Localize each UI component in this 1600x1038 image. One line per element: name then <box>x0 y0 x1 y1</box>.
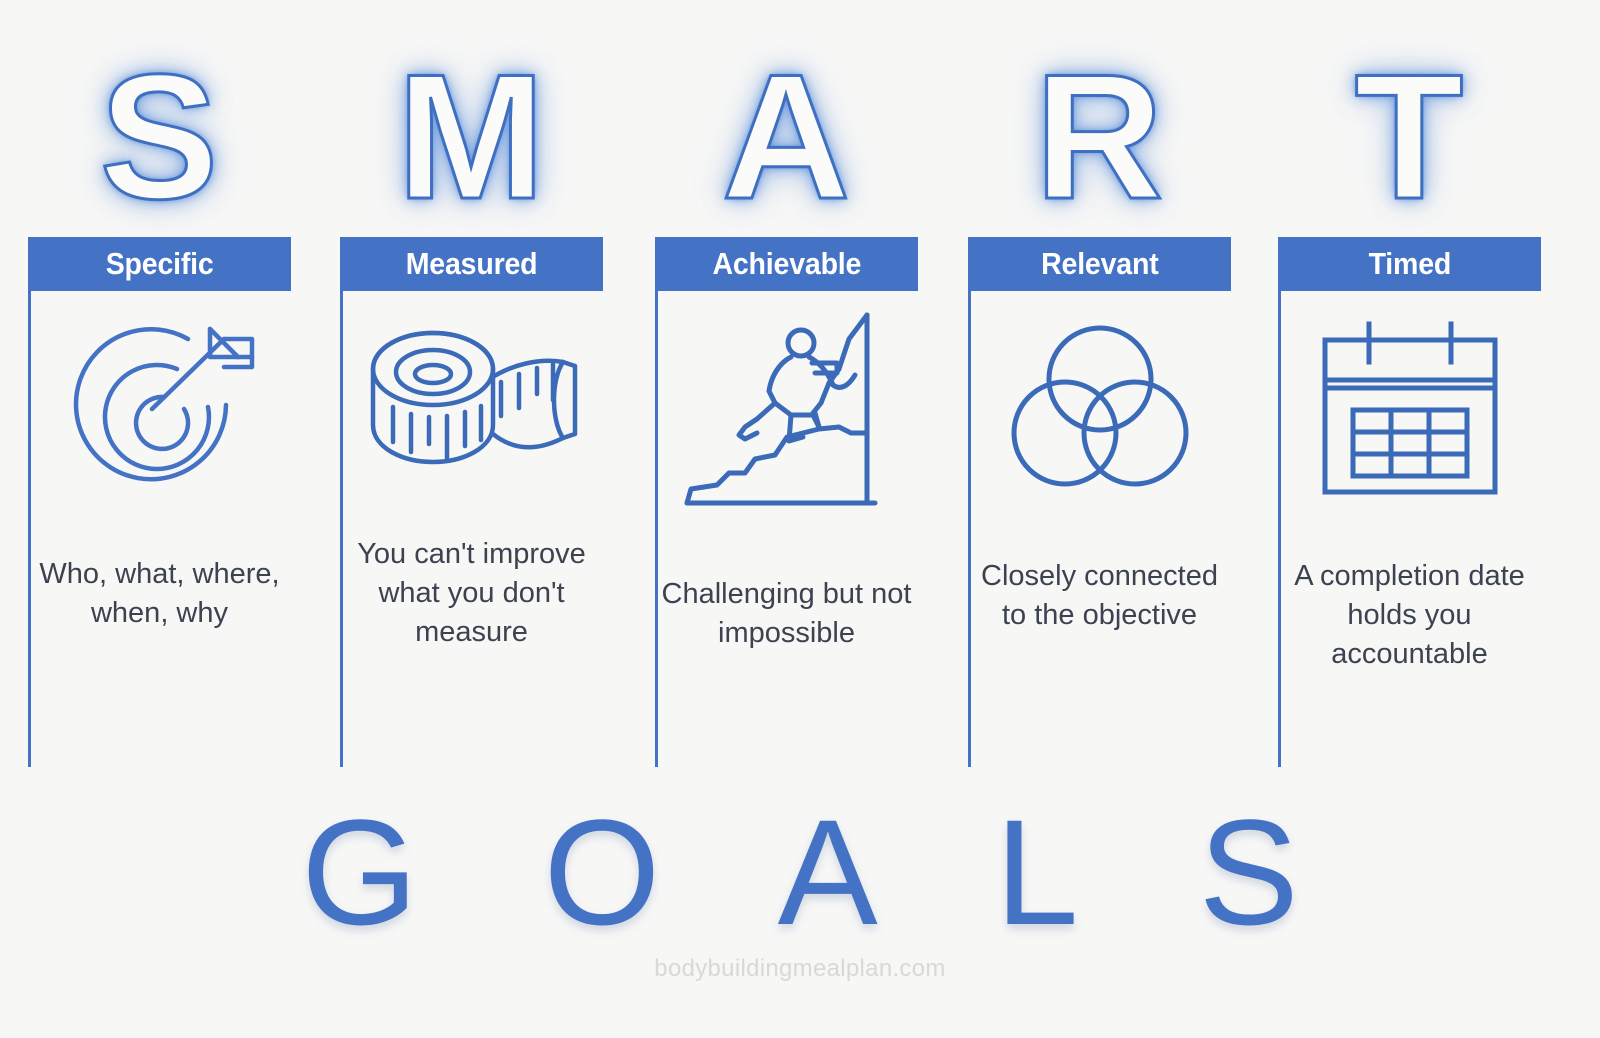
column-description-achievable: Challenging but not impossible <box>655 575 918 653</box>
venn-diagram-icon <box>968 299 1231 519</box>
column-title-measured: Measured <box>406 246 538 282</box>
column-title-achievable: Achievable <box>712 246 861 282</box>
column-description-measured: You can't improve what you don't measure <box>340 535 603 652</box>
column-header-measured: Measured <box>340 237 603 291</box>
column-title-timed: Timed <box>1368 246 1451 282</box>
column-description-specific: Who, what, where, when, why <box>28 555 291 633</box>
measuring-tape-icon <box>340 299 603 519</box>
footer-watermark-url: bodybuildingmealplan.com <box>0 955 1600 983</box>
column-header-specific: Specific <box>28 237 291 291</box>
goals-word: G O A L S <box>0 790 1600 955</box>
column-achievable: Achievable <box>655 237 918 767</box>
column-relevant: Relevant Closely connected to the object… <box>968 237 1231 767</box>
calendar-icon <box>1278 299 1541 519</box>
column-header-relevant: Relevant <box>968 237 1231 291</box>
column-header-timed: Timed <box>1278 237 1541 291</box>
column-description-relevant: Closely connected to the objective <box>968 557 1231 635</box>
column-specific: Specific Who, what, where, when, w <box>28 237 291 767</box>
target-arrow-icon <box>28 299 291 519</box>
column-title-specific: Specific <box>106 246 214 282</box>
column-title-relevant: Relevant <box>1041 246 1158 282</box>
smart-goals-infographic: S M A R T Specific <box>0 0 1600 1038</box>
column-measured: Measured <box>340 237 603 767</box>
column-timed: Timed <box>1278 237 1541 767</box>
mountain-climber-icon <box>655 299 918 519</box>
column-description-timed: A completion date holds you accountable <box>1278 557 1541 674</box>
column-header-achievable: Achievable <box>655 237 918 291</box>
